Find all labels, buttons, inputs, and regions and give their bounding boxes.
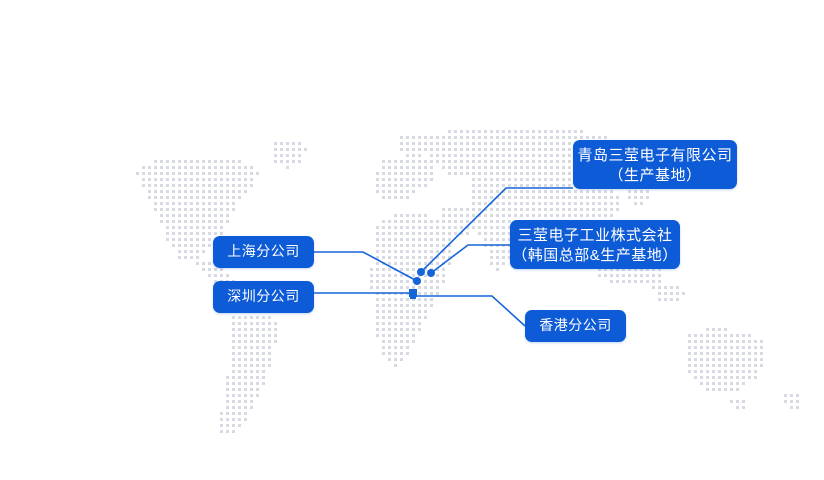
label-shenzhen[interactable]: 深圳分公司 <box>213 281 314 313</box>
label-shanghai-line1: 上海分公司 <box>213 242 314 261</box>
connector-korea <box>431 245 510 273</box>
qingdao-marker[interactable] <box>417 268 425 276</box>
label-korea-line2: （韩国总部&生产基地） <box>510 246 680 266</box>
label-shanghai[interactable]: 上海分公司 <box>213 236 314 268</box>
korea-marker[interactable] <box>427 269 435 277</box>
connector-shanghai <box>314 252 417 281</box>
connector-hongkong <box>413 296 525 326</box>
map-canvas: 青岛三莹电子有限公司 （生产基地） 三莹电子工业株式会社 （韩国总部&生产基地）… <box>0 0 824 480</box>
hongkong-marker[interactable] <box>410 293 416 299</box>
label-qingdao-line1: 青岛三莹电子有限公司 <box>573 146 737 166</box>
label-korea-hq[interactable]: 三莹电子工业株式会社 （韩国总部&生产基地） <box>510 220 680 269</box>
shanghai-marker[interactable] <box>413 277 421 285</box>
label-shenzhen-line1: 深圳分公司 <box>213 287 314 306</box>
label-korea-line1: 三莹电子工业株式会社 <box>510 226 680 246</box>
label-hongkong-line1: 香港分公司 <box>525 316 626 335</box>
label-hongkong[interactable]: 香港分公司 <box>525 310 626 342</box>
connector-layer <box>0 0 824 480</box>
label-qingdao[interactable]: 青岛三莹电子有限公司 （生产基地） <box>573 140 737 189</box>
label-qingdao-line2: （生产基地） <box>573 166 737 186</box>
